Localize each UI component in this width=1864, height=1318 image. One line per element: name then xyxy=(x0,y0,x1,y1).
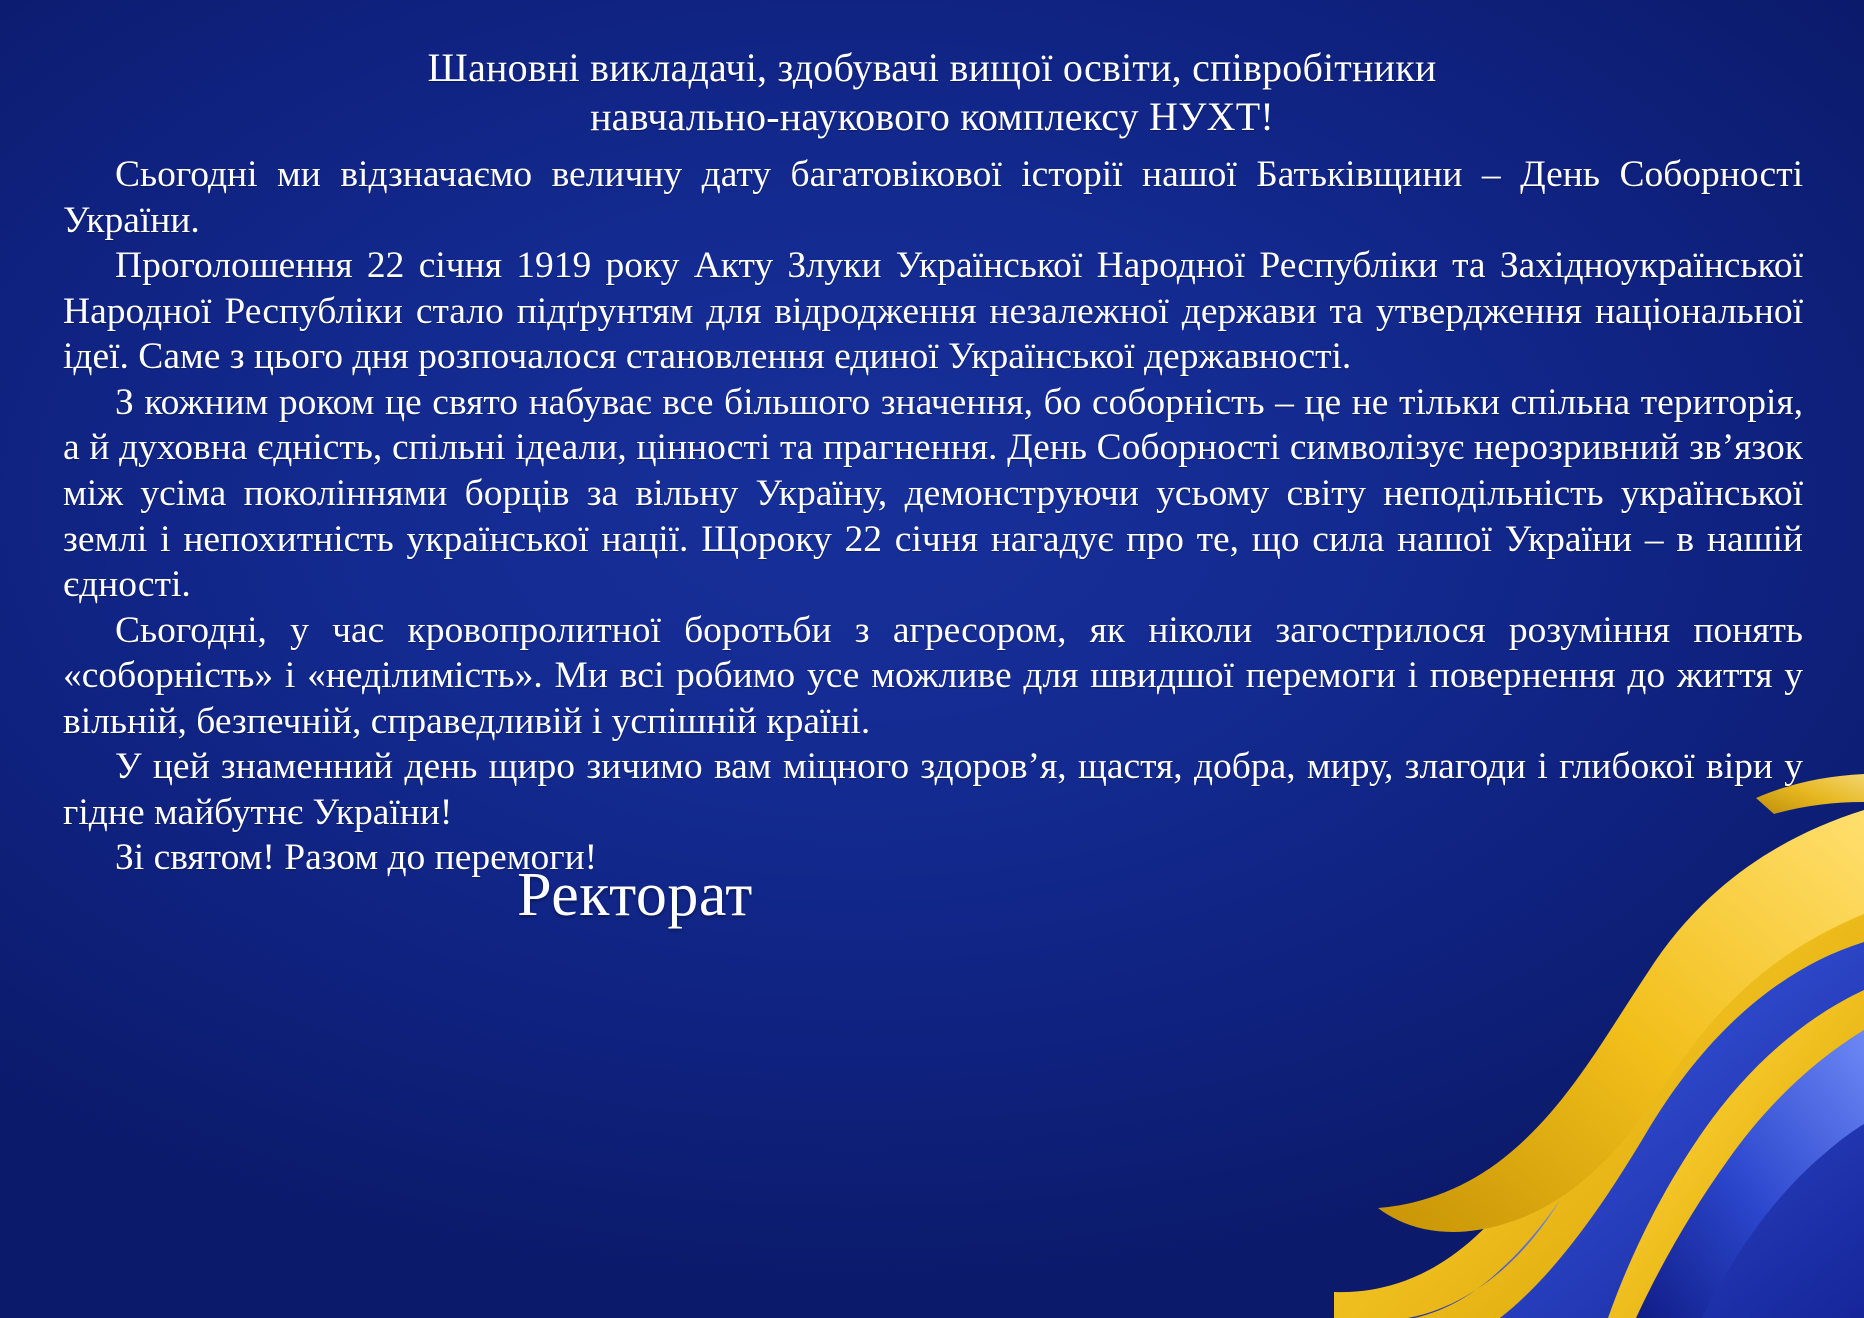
body-paragraph-4: Сьогодні, у час кровопролитної боротьби … xyxy=(63,608,1803,745)
greeting-slide: Шановні викладачі, здобувачі вищої освіт… xyxy=(0,0,1864,1318)
body-paragraph-2: Проголошення 22 січня 1919 року Акту Злу… xyxy=(63,243,1803,380)
page-title-line-1: Шановні викладачі, здобувачі вищої освіт… xyxy=(0,44,1864,93)
page-title: Шановні викладачі, здобувачі вищої освіт… xyxy=(0,44,1864,142)
body-copy: Сьогодні ми відзначаємо величну дату баг… xyxy=(63,152,1803,881)
body-paragraph-1: Сьогодні ми відзначаємо величну дату баг… xyxy=(63,152,1803,243)
body-paragraph-5: У цей знаменний день щиро зичимо вам міц… xyxy=(63,744,1803,835)
page-title-line-2: навчально-наукового комплексу НУХТ! xyxy=(0,93,1864,142)
signature: Ректорат xyxy=(0,860,1270,931)
body-paragraph-3: З кожним роком це свято набуває все біль… xyxy=(63,380,1803,608)
